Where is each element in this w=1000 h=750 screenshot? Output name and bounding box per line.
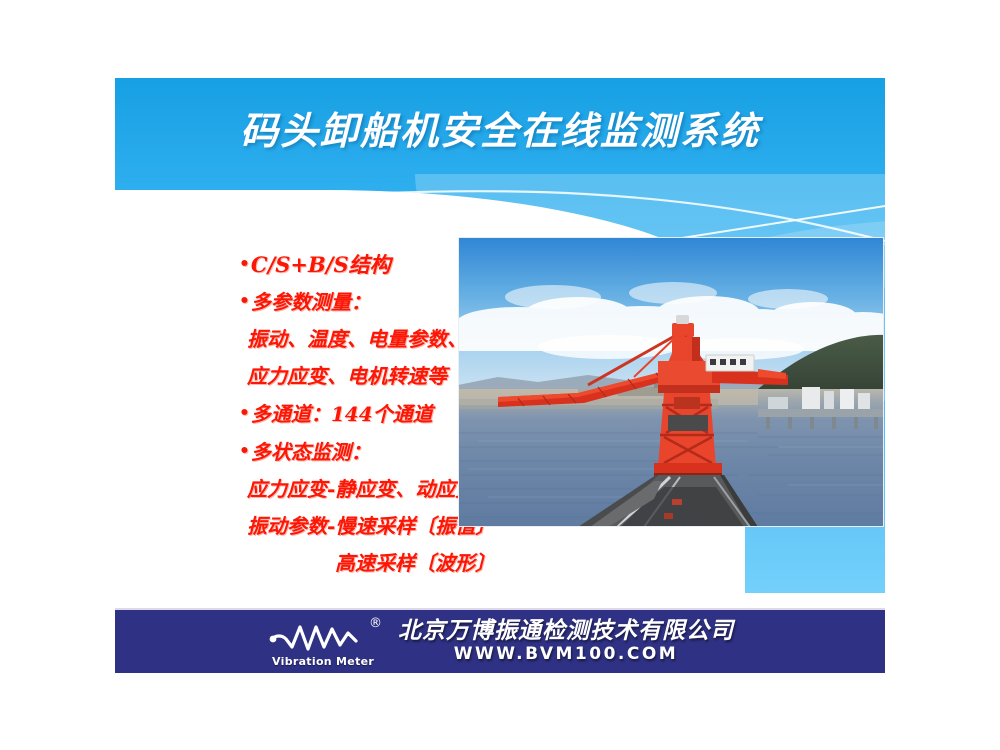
bullet-text: 多状态监测： bbox=[251, 440, 371, 464]
bullet-text: 高速采样〔波形〕 bbox=[335, 551, 495, 575]
bullet-text: 多通道：144个通道 bbox=[251, 402, 433, 426]
ship-unloader-photo bbox=[458, 237, 884, 527]
bullet-text: 多参数测量： bbox=[251, 290, 371, 314]
footer-bar: ® Vibration Meter 北京万博振通检测技术有限公司 WWW.BVM… bbox=[115, 608, 885, 673]
bullet-marker: • bbox=[239, 441, 250, 461]
bullet-text: C/S+B/S结构 bbox=[251, 252, 391, 277]
registered-trademark-icon: ® bbox=[369, 616, 382, 631]
company-name: 北京万博振通检测技术有限公司 bbox=[398, 619, 734, 643]
bullet-text: 振动、温度、电量参数、 bbox=[247, 327, 467, 351]
bullet-marker: • bbox=[239, 254, 250, 274]
bullet-item: 高速采样〔波形〕 bbox=[239, 545, 579, 582]
company-website: WWW.BVM100.COM bbox=[454, 646, 678, 664]
slide-content-panel: 码头卸船机安全在线监测系统 •C/S+B/S结构 •多参数测量： 振动、温度、电… bbox=[115, 78, 885, 593]
footer-text-group: 北京万博振通检测技术有限公司 WWW.BVM100.COM bbox=[398, 619, 734, 664]
bullet-marker: • bbox=[239, 403, 250, 423]
company-logo: ® Vibration Meter bbox=[266, 617, 384, 667]
bullet-marker: • bbox=[239, 291, 250, 311]
presentation-slide: 码头卸船机安全在线监测系统 •C/S+B/S结构 •多参数测量： 振动、温度、电… bbox=[0, 0, 1000, 750]
logo-caption: Vibration Meter bbox=[272, 655, 374, 668]
bullet-text: 应力应变、电机转速等 bbox=[247, 364, 447, 388]
slide-title: 码头卸船机安全在线监测系统 bbox=[115, 100, 885, 155]
